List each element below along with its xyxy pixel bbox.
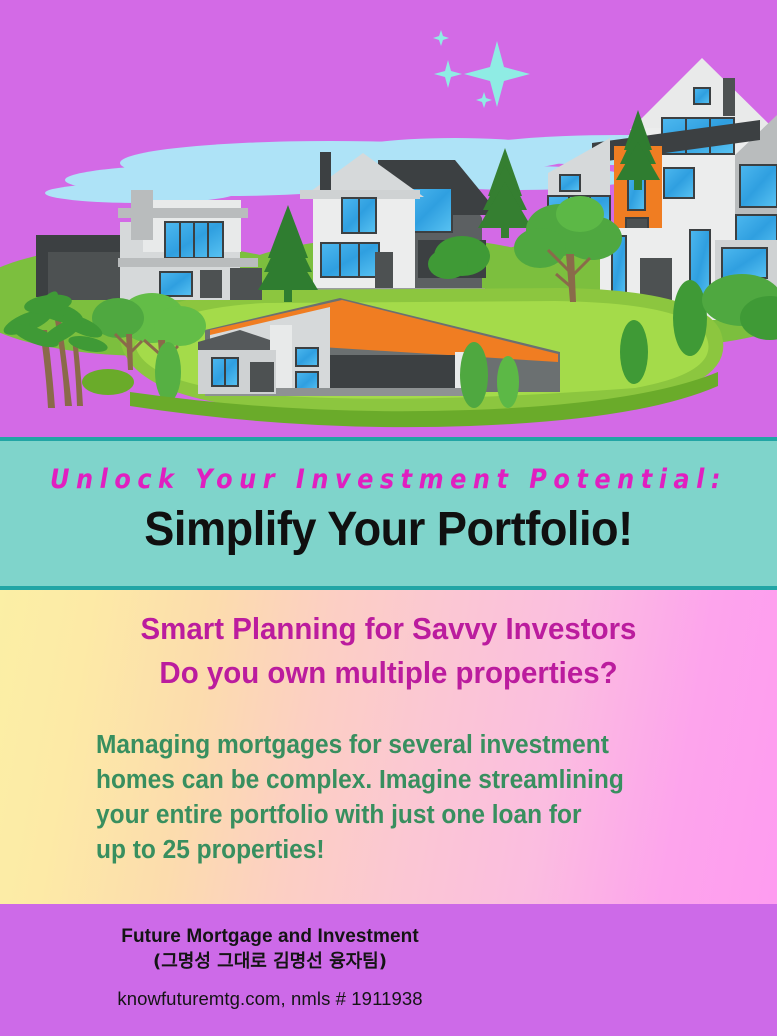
subheading-line-2: Do you own multiple properties?: [19, 651, 757, 695]
body-paragraph-line-3: your entire portfolio with just one loan…: [96, 798, 662, 833]
main-headline: Simplify Your Portfolio!: [23, 502, 753, 557]
body-paragraph: Managing mortgages for several investmen…: [96, 728, 662, 868]
business-name: Future Mortgage and Investment: [20, 924, 520, 949]
flyer-poster: Unlock Your Investment Potential: Simpli…: [0, 0, 777, 1036]
eyebrow-text: Unlock Your Investment Potential:: [0, 463, 777, 494]
footer-band: Future Mortgage and Investment (그명성 그대로 …: [0, 904, 777, 1036]
footer-contact-block: Future Mortgage and Investment (그명성 그대로 …: [20, 924, 520, 1010]
body-paragraph-line-1: Managing mortgages for several investmen…: [96, 728, 662, 763]
subheading-line-1: Smart Planning for Savvy Investors: [19, 607, 757, 651]
body-section: Smart Planning for Savvy Investors Do yo…: [0, 590, 777, 904]
headline-band: Unlock Your Investment Potential: Simpli…: [0, 437, 777, 590]
hero-illustration: [0, 0, 777, 437]
subheading-group: Smart Planning for Savvy Investors Do yo…: [19, 607, 757, 695]
small-right-house: [198, 330, 276, 394]
body-paragraph-line-2: homes can be complex. Imagine streamlini…: [96, 763, 662, 798]
contact-line[interactable]: knowfuturemtg.com, nmls # 1911938: [20, 988, 520, 1010]
body-paragraph-line-4: up to 25 properties!: [96, 833, 662, 868]
business-name-korean: (그명성 그대로 김명선 융자팀): [20, 949, 520, 975]
